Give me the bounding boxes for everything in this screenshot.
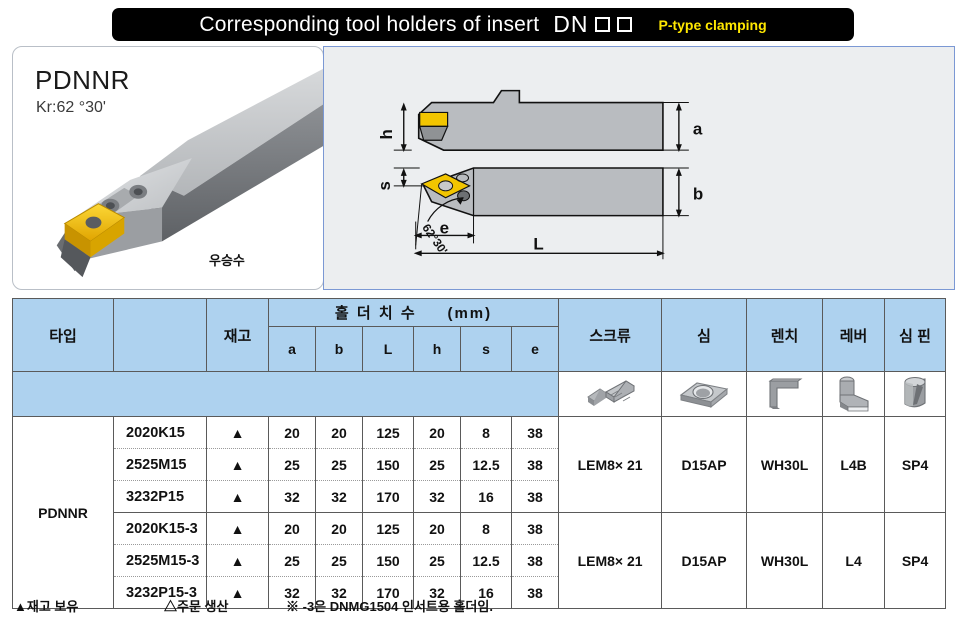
cell-dim-h: 20 (414, 513, 461, 545)
cell-lever: L4B (823, 417, 885, 513)
table-row[interactable]: 2020K15-3 ▲ 20 20 125 20 8 38 LEM8× 21 D… (13, 513, 946, 545)
header-lever: 레버 (823, 299, 885, 372)
placeholder-box-icon (595, 17, 610, 32)
cell-dim-h: 20 (414, 417, 461, 449)
cell-dim-b: 20 (316, 417, 363, 449)
cell-type-name: PDNNR (13, 417, 114, 609)
cell-lever: L4 (823, 513, 885, 609)
header-type: 타입 (13, 299, 114, 372)
wrench-icon (760, 375, 810, 413)
shim-icon-cell (662, 372, 747, 417)
cell-stock: ▲ (207, 513, 269, 545)
cell-shim-pin: SP4 (885, 417, 946, 513)
cell-screw: LEM8× 21 (559, 513, 662, 609)
header-wrench: 렌치 (747, 299, 823, 372)
cell-dim-L: 125 (363, 417, 414, 449)
header-dim-e: e (512, 327, 559, 372)
dim-label-b: b (693, 185, 703, 204)
cell-dim-h: 25 (414, 545, 461, 577)
cell-shim: D15AP (662, 513, 747, 609)
cell-dim-a: 20 (269, 513, 316, 545)
dim-label-L: L (533, 234, 543, 253)
cell-dim-h: 25 (414, 449, 461, 481)
cell-dim-a: 20 (269, 417, 316, 449)
header-stock: 재고 (207, 299, 269, 372)
cell-dim-s: 8 (461, 513, 512, 545)
cell-stock: ▲ (207, 417, 269, 449)
cell-dim-e: 38 (512, 513, 559, 545)
catalog-page: Corresponding tool holders of insert DN … (0, 0, 967, 624)
cell-dim-a: 25 (269, 545, 316, 577)
cell-dim-e: 38 (512, 449, 559, 481)
header-dim-s: s (461, 327, 512, 372)
cell-shim-pin: SP4 (885, 513, 946, 609)
cell-dim-b: 20 (316, 513, 363, 545)
cell-stock: ▲ (207, 449, 269, 481)
header-banner: Corresponding tool holders of insert DN … (112, 8, 854, 41)
cell-dim-a: 25 (269, 449, 316, 481)
specifications-table: 타입 재고 홀 더 치 수 (mm) 스크류 심 렌치 레버 심 핀 a b L… (12, 298, 946, 609)
cell-dim-e: 38 (512, 481, 559, 513)
page-title: Corresponding tool holders of insert (199, 13, 539, 37)
component-icon-row (13, 372, 946, 417)
shim-pin-icon (893, 374, 937, 414)
footer-notes: ▲재고 보유 △주문 생산 ※ -3은 DNMG1504 인서트용 홀더임. (14, 596, 954, 615)
lever-icon-cell (823, 372, 885, 417)
cell-size-code: 3232P15 (114, 481, 207, 513)
note-made-to-order: △주문 생산 (164, 596, 286, 615)
dim-label-h: h (377, 129, 396, 139)
dim-label-s: s (375, 181, 394, 190)
cell-dim-s: 16 (461, 481, 512, 513)
header-dim-h: h (414, 327, 461, 372)
note-insert-compatibility: ※ -3은 DNMG1504 인서트용 홀더임. (286, 596, 493, 615)
cell-stock: ▲ (207, 481, 269, 513)
header-dimensions-group: 홀 더 치 수 (mm) (269, 299, 559, 327)
cell-dim-s: 12.5 (461, 545, 512, 577)
header-dim-a: a (269, 327, 316, 372)
dimension-drawing: h a s b e L 62°30' (324, 47, 954, 289)
cell-dim-b: 25 (316, 545, 363, 577)
shim-icon (675, 375, 733, 413)
table-header-row-top: 타입 재고 홀 더 치 수 (mm) 스크류 심 렌치 레버 심 핀 (13, 299, 946, 327)
header-dim-b: b (316, 327, 363, 372)
cell-stock: ▲ (207, 545, 269, 577)
cell-dim-L: 125 (363, 513, 414, 545)
clamping-label: P-type clamping (658, 17, 766, 33)
insert-code: DN (553, 11, 632, 38)
product-image-panel: PDNNR Kr:62 °30' 우승수 (12, 46, 324, 290)
table-row[interactable]: PDNNR 2020K15 ▲ 20 20 125 20 8 38 LEM8× … (13, 417, 946, 449)
screw-icon (580, 375, 640, 413)
cell-size-code: 2525M15-3 (114, 545, 207, 577)
header-dimensions-unit: (mm) (447, 305, 492, 322)
product-angle: Kr:62 °30' (36, 99, 106, 117)
technical-drawing-panel: h a s b e L 62°30' (323, 46, 955, 290)
cell-dim-s: 8 (461, 417, 512, 449)
cell-dim-e: 38 (512, 545, 559, 577)
cell-dim-L: 150 (363, 449, 414, 481)
cell-size-code: 2525M15 (114, 449, 207, 481)
product-name: PDNNR (35, 65, 130, 96)
placeholder-box-icon (617, 17, 632, 32)
cell-dim-e: 38 (512, 417, 559, 449)
header-dimensions-label: 홀 더 치 수 (335, 305, 417, 322)
cell-size-code: 2020K15 (114, 417, 207, 449)
lever-icon (828, 374, 880, 414)
insert-code-text: DN (553, 11, 588, 38)
cell-dim-s: 12.5 (461, 449, 512, 481)
header-dim-L: L (363, 327, 414, 372)
cell-wrench: WH30L (747, 417, 823, 513)
hand-label: 우승수 (209, 250, 245, 269)
cell-dim-a: 32 (269, 481, 316, 513)
cell-size-code: 2020K15-3 (114, 513, 207, 545)
wrench-icon-cell (747, 372, 823, 417)
cell-dim-L: 150 (363, 545, 414, 577)
cell-shim: D15AP (662, 417, 747, 513)
header-type-spacer (114, 299, 207, 372)
header-screw: 스크류 (559, 299, 662, 372)
shim-pin-icon-cell (885, 372, 946, 417)
header-shim-pin: 심 핀 (885, 299, 946, 372)
cell-wrench: WH30L (747, 513, 823, 609)
screw-icon-cell (559, 372, 662, 417)
cell-screw: LEM8× 21 (559, 417, 662, 513)
cell-dim-b: 32 (316, 481, 363, 513)
cell-dim-h: 32 (414, 481, 461, 513)
cell-dim-b: 25 (316, 449, 363, 481)
header-shim: 심 (662, 299, 747, 372)
cell-dim-L: 170 (363, 481, 414, 513)
dim-label-a: a (693, 119, 703, 138)
note-in-stock: ▲재고 보유 (14, 596, 164, 615)
